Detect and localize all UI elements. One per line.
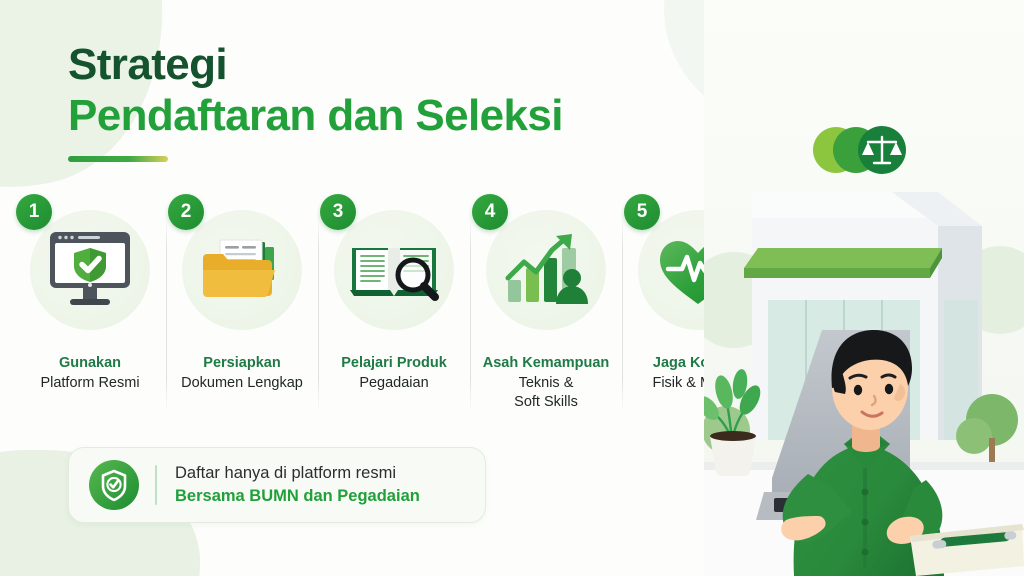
step-icon-wrap-3: 3 bbox=[332, 208, 456, 332]
step-label-line1: Gunakan bbox=[40, 354, 139, 374]
callout-divider bbox=[155, 465, 157, 505]
step-label-line1: Asah Kemampuan bbox=[483, 354, 610, 374]
step-card-2[interactable]: 2 bbox=[166, 196, 318, 413]
step-caption-1: Gunakan Platform Resmi bbox=[40, 354, 139, 393]
header: Strategi Pendaftaran dan Seleksi bbox=[68, 42, 563, 162]
steps-row: 1 bbox=[14, 196, 774, 413]
page-title-line1: Strategi bbox=[68, 42, 563, 89]
step-number-badge-1: 1 bbox=[16, 194, 52, 230]
folder-documents-icon bbox=[180, 208, 304, 332]
step-icon-wrap-2: 2 bbox=[180, 208, 304, 332]
callout-line1: Daftar hanya di platform resmi bbox=[175, 462, 420, 485]
step-icon-wrap-1: 1 bbox=[28, 208, 152, 332]
monitor-shield-icon bbox=[28, 208, 152, 332]
step-number-badge-5: 5 bbox=[624, 194, 660, 230]
step-label-line1: Persiapkan bbox=[181, 354, 303, 374]
infographic-canvas: Strategi Pendaftaran dan Seleksi 1 bbox=[0, 0, 1024, 576]
book-magnifier-icon bbox=[332, 208, 456, 332]
step-caption-4: Asah Kemampuan Teknis & Soft Skills bbox=[483, 354, 610, 413]
step-card-3[interactable]: 3 bbox=[318, 196, 470, 413]
official-platform-callout[interactable]: Daftar hanya di platform resmi Bersama B… bbox=[68, 447, 486, 523]
step-icon-wrap-4: 4 bbox=[484, 208, 608, 332]
step-caption-2: Persiapkan Dokumen Lengkap bbox=[181, 354, 303, 393]
title-accent-bar bbox=[68, 156, 168, 162]
step-card-1[interactable]: 1 bbox=[14, 196, 166, 413]
callout-text: Daftar hanya di platform resmi Bersama B… bbox=[175, 462, 420, 509]
step-label-line2: Platform Resmi bbox=[40, 374, 139, 394]
shield-check-icon bbox=[89, 460, 139, 510]
step-number-badge-3: 3 bbox=[320, 194, 356, 230]
page-title-line2: Pendaftaran dan Seleksi bbox=[68, 91, 563, 140]
step-caption-3: Pelajari Produk Pegadaian bbox=[341, 354, 447, 393]
callout-line2: Bersama BUMN dan Pegadaian bbox=[175, 485, 420, 508]
step-label-line2: Teknis & Soft Skills bbox=[483, 374, 610, 413]
step-label-line2: Pegadaian bbox=[341, 374, 447, 394]
illustration-man-at-laptop bbox=[704, 0, 1024, 576]
step-label-line2: Dokumen Lengkap bbox=[181, 374, 303, 394]
step-card-4[interactable]: 4 Asah Kemampuan Teknis & bbox=[470, 196, 622, 413]
step-label-line1: Pelajari Produk bbox=[341, 354, 447, 374]
step-number-badge-2: 2 bbox=[168, 194, 204, 230]
growth-chart-person-icon bbox=[484, 208, 608, 332]
pegadaian-three-circles-scales-logo bbox=[813, 126, 906, 174]
step-number-badge-4: 4 bbox=[472, 194, 508, 230]
